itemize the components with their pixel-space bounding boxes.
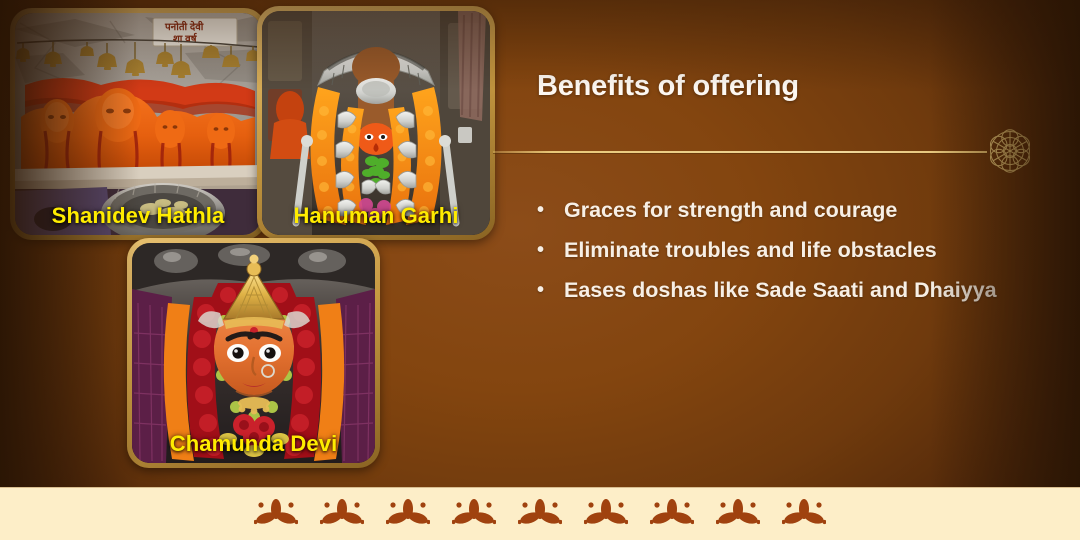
hanuman-garhi-image <box>262 11 490 235</box>
floral-trefoil-motif <box>716 498 760 528</box>
floral-trefoil-motif <box>452 498 496 528</box>
footer-band <box>0 487 1080 540</box>
photo-caption: Chamunda Devi <box>132 431 375 457</box>
slide-canvas: पनोती देवी शा वर्ष <box>0 0 1080 540</box>
floral-trefoil-motif <box>518 498 562 528</box>
floral-trefoil-motif <box>254 498 298 528</box>
photo-card-shanidev-hathla[interactable]: पनोती देवी शा वर्ष <box>10 8 266 240</box>
photo-card-hanuman-garhi[interactable]: Hanuman Garhi <box>257 6 495 240</box>
svg-text:पनोती देवी: पनोती देवी <box>164 20 204 33</box>
list-item: Eases doshas like Sade Saati and Dhaiyya <box>531 270 1001 310</box>
photo-frame: Chamunda Devi <box>132 243 375 463</box>
list-item: Eliminate troubles and life obstacles <box>531 230 1001 270</box>
photo-caption: Hanuman Garhi <box>262 203 490 229</box>
gold-divider-line <box>493 151 987 153</box>
floral-trefoil-motif <box>650 498 694 528</box>
svg-text:शा वर्ष: शा वर्ष <box>173 32 198 45</box>
shanidev-hathla-image: पनोती देवी शा वर्ष <box>15 13 261 235</box>
page-title: Benefits of offering <box>537 70 799 103</box>
photo-frame: पनोती देवी शा वर्ष <box>15 13 261 235</box>
mandala-rosette-icon <box>983 124 1037 178</box>
footer-motif-row <box>0 498 1080 528</box>
floral-trefoil-motif <box>782 498 826 528</box>
photo-frame: Hanuman Garhi <box>262 11 490 235</box>
photo-caption: Shanidev Hathla <box>15 203 261 229</box>
benefits-list: Graces for strength and courage Eliminat… <box>531 190 1001 310</box>
floral-trefoil-motif <box>386 498 430 528</box>
photo-card-chamunda-devi[interactable]: Chamunda Devi <box>127 238 380 468</box>
footer-band-edge <box>0 487 1080 488</box>
chamunda-devi-image <box>132 243 375 463</box>
floral-trefoil-motif <box>584 498 628 528</box>
floral-trefoil-motif <box>320 498 364 528</box>
list-item: Graces for strength and courage <box>531 190 1001 230</box>
